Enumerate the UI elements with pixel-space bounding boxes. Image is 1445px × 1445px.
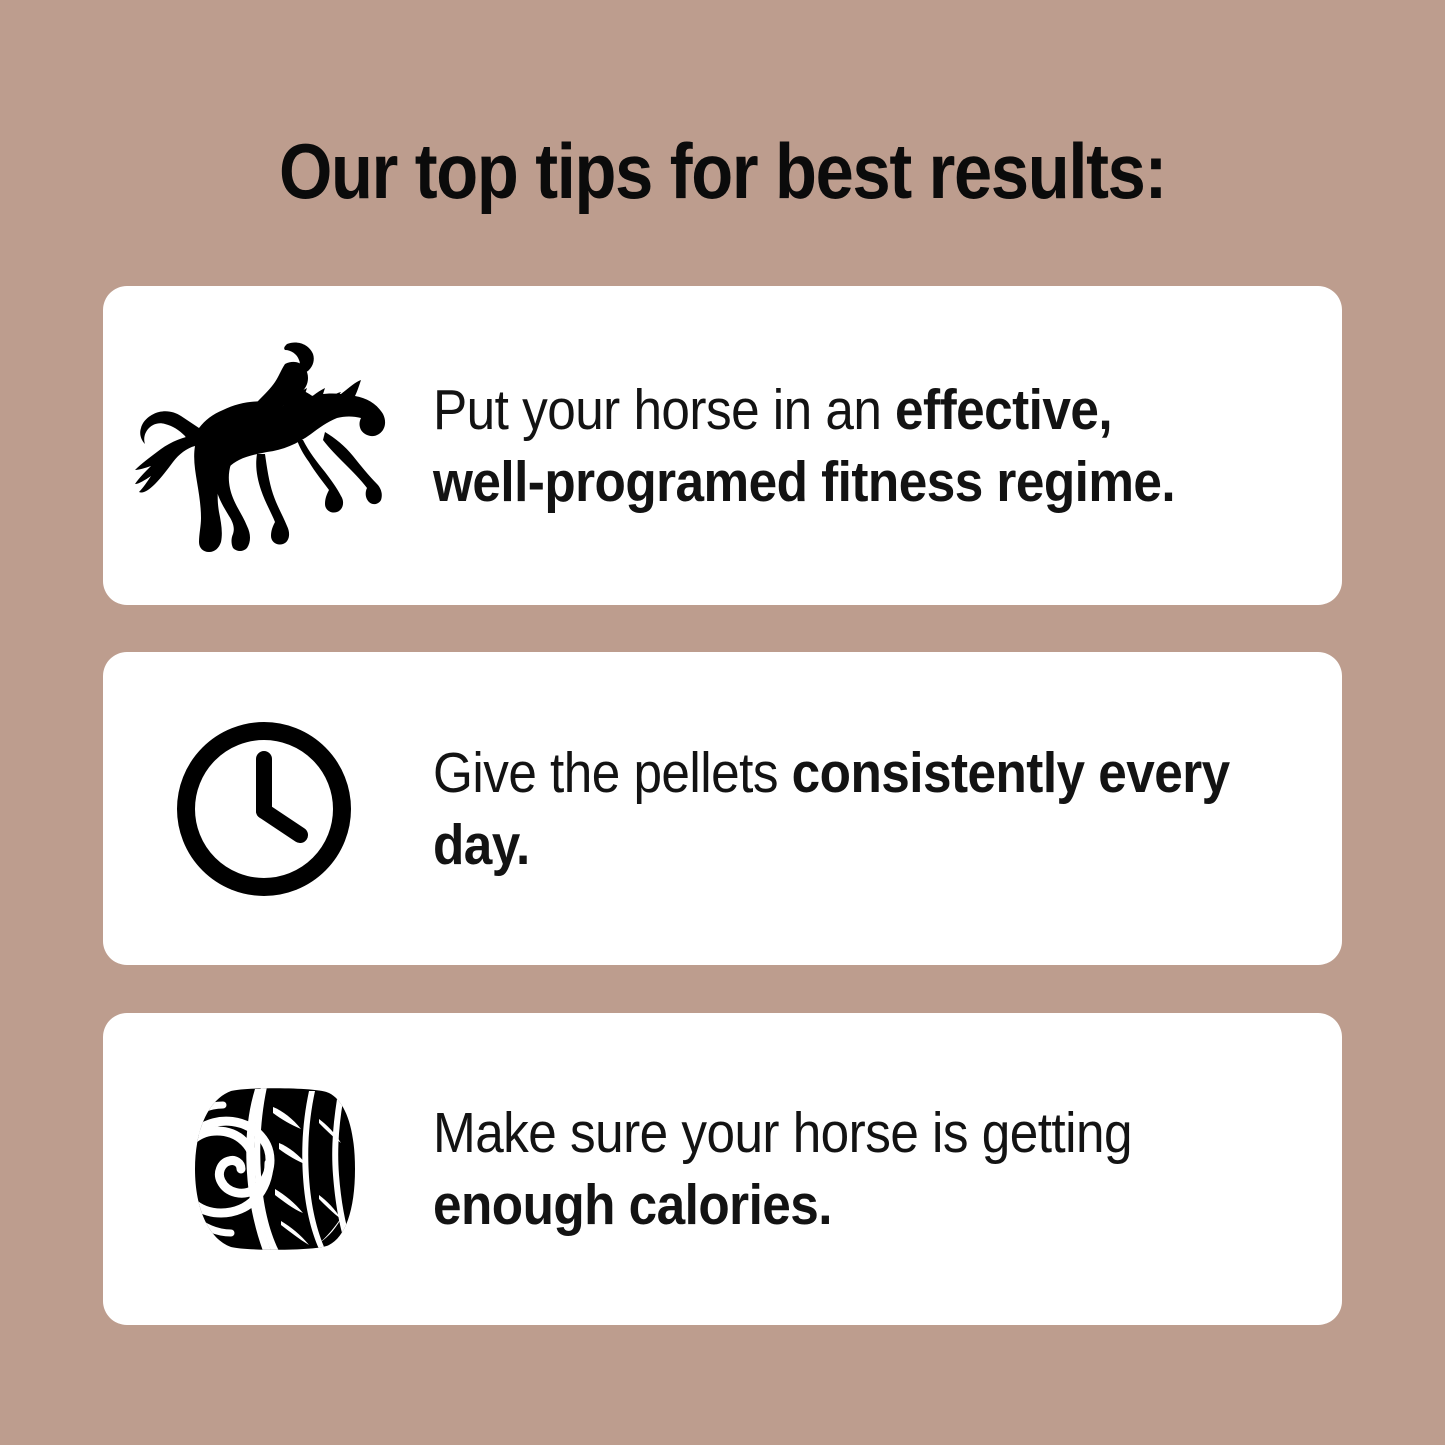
tip-text-1-regular: Put your horse in an bbox=[433, 378, 895, 442]
tip-card-1: Put your horse in an effective, well-pro… bbox=[103, 286, 1342, 605]
tip-text-3: Make sure your horse is getting enough c… bbox=[433, 1097, 1251, 1241]
tip-text-2: Give the pellets consistently every day. bbox=[433, 737, 1251, 881]
tip-text-3-bold: enough calories. bbox=[433, 1173, 832, 1237]
clock-icon bbox=[103, 721, 425, 897]
tip-card-3: Make sure your horse is getting enough c… bbox=[103, 1013, 1342, 1325]
page-title: Our top tips for best results: bbox=[87, 128, 1359, 214]
tip-text-3-regular: Make sure your horse is getting bbox=[433, 1101, 1132, 1165]
tip-card-2: Give the pellets consistently every day. bbox=[103, 652, 1342, 965]
tip-text-1: Put your horse in an effective, well-pro… bbox=[433, 374, 1251, 518]
tip-text-2-regular: Give the pellets bbox=[433, 741, 792, 805]
horse-rider-icon bbox=[103, 336, 425, 556]
tips-poster: Our top tips for best results: bbox=[0, 0, 1445, 1445]
hay-bale-icon bbox=[103, 1085, 425, 1253]
